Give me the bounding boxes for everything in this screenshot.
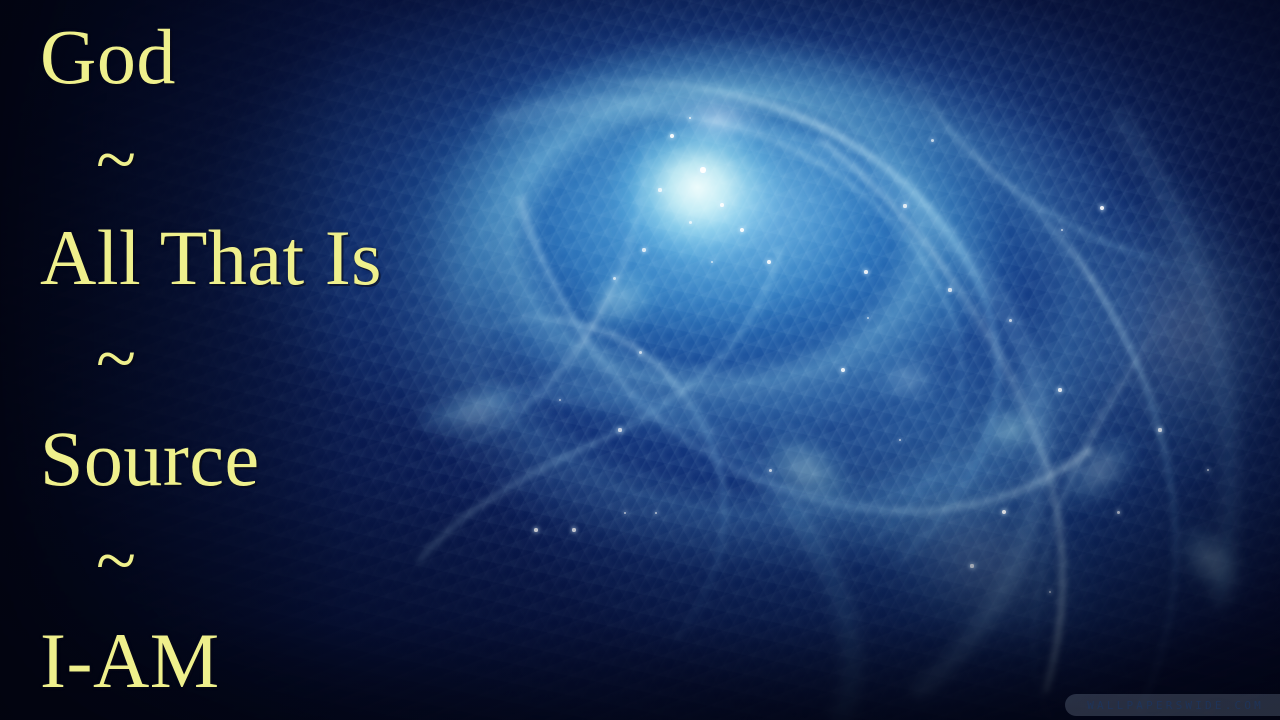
star-point <box>689 221 692 224</box>
star-point <box>740 228 744 232</box>
star-point <box>903 204 906 207</box>
star-point <box>700 167 705 172</box>
star-point <box>841 368 845 372</box>
watermark-badge: WALLPAPERSWIDE.COM <box>1065 694 1280 716</box>
star-point <box>1158 428 1161 431</box>
star-point <box>1100 206 1104 210</box>
star-point <box>689 117 692 120</box>
verse-line-source: Source <box>40 420 260 497</box>
star-point <box>1061 229 1064 232</box>
star-point <box>711 261 714 264</box>
star-point <box>1058 388 1061 391</box>
star-point <box>948 288 951 291</box>
star-point <box>1002 510 1006 514</box>
verse-line-all-that-is: All That Is <box>40 219 382 296</box>
star-point <box>899 439 902 442</box>
star-point <box>931 139 934 142</box>
star-point <box>970 564 973 567</box>
star-point <box>1009 319 1012 322</box>
star-point <box>1207 469 1210 472</box>
verse-line-god: God <box>40 18 176 95</box>
wallpaper-canvas: God ~ All That Is ~ Source ~ I-AM WALLPA… <box>0 0 1280 720</box>
verse-separator-tilde-2: ~ <box>40 322 137 396</box>
verse-line-i-am: I-AM <box>40 622 220 699</box>
star-point <box>767 260 771 264</box>
watermark-label: WALLPAPERSWIDE.COM <box>1087 699 1264 712</box>
verse-separator-tilde-1: ~ <box>40 123 137 197</box>
star-point <box>864 270 868 274</box>
star-point <box>867 317 870 320</box>
star-point <box>1049 591 1052 594</box>
verse-text-block: God ~ All That Is ~ Source ~ I-AM <box>40 0 680 720</box>
verse-separator-tilde-3: ~ <box>40 524 137 598</box>
star-point <box>769 469 772 472</box>
star-point <box>1117 511 1120 514</box>
star-point <box>720 203 724 207</box>
